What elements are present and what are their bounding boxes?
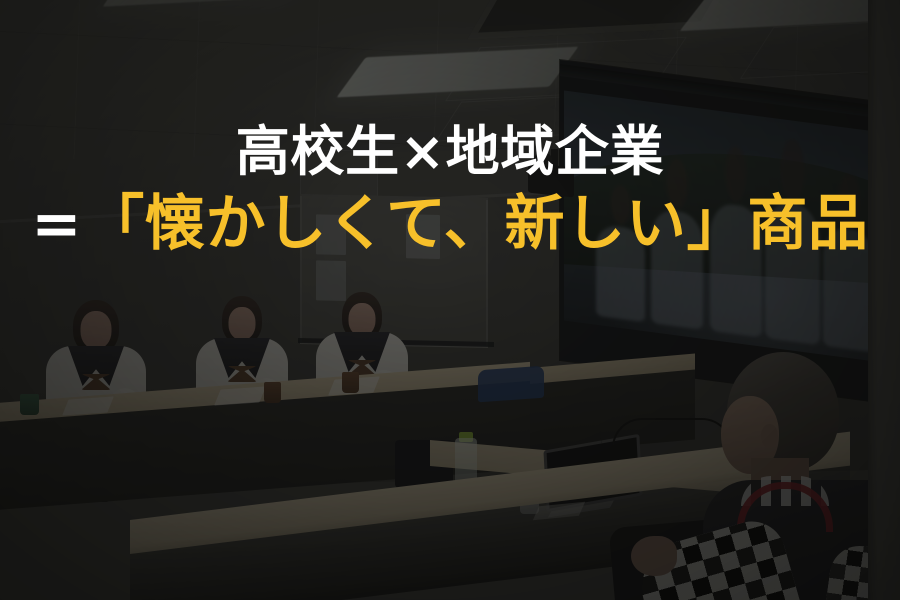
headline-block: 高校生×地域企業 =「懐かしくて、新しい」商品 bbox=[0, 0, 900, 600]
headline-line-2: =「懐かしくて、新しい」商品 bbox=[31, 192, 869, 257]
headline-line-2-text: 「懐かしくて、新しい」商品 bbox=[84, 189, 869, 259]
equals-sign: = bbox=[31, 189, 82, 259]
screenshot-root: 高校生×地域企業 =「懐かしくて、新しい」商品 bbox=[0, 0, 900, 600]
headline-line-1: 高校生×地域企業 bbox=[236, 123, 664, 181]
